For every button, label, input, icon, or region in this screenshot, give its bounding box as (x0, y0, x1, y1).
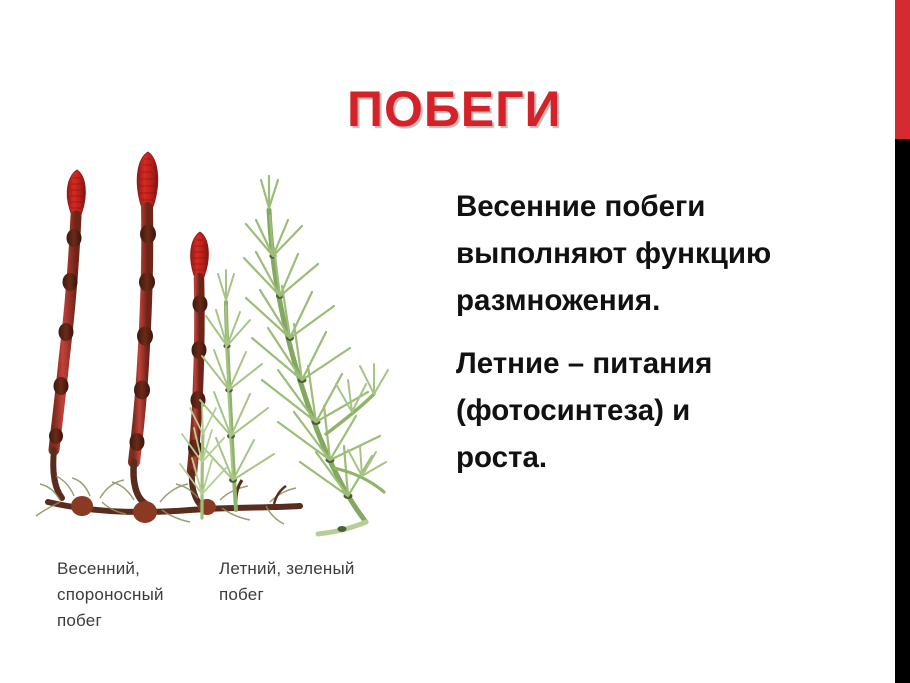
horsetail-illustration (30, 150, 390, 540)
body-text-block: Весенние побеги выполняют функцию размно… (456, 183, 786, 481)
spring-shoot-left (49, 170, 85, 498)
edge-accent-bar-black (895, 139, 910, 683)
caption-spring-shoot: Весенний, спороносный побег (57, 556, 207, 634)
summer-shoot-group (180, 176, 388, 534)
body-paragraph-1: Весенние побеги выполняют функцию размно… (456, 183, 786, 324)
caption-summer-shoot: Летний, зеленый побег (219, 556, 389, 608)
page-title: ПОБЕГИ (347, 84, 561, 134)
spring-shoot-right (188, 232, 208, 508)
body-paragraph-2: Летние – питания (фотосинтеза) и роста. (456, 340, 786, 481)
spring-shoot-group (49, 152, 208, 508)
spring-shoot-middle (130, 152, 158, 504)
presentation-slide: ПОБЕГИ Весенние побеги выполняют функцию… (0, 0, 910, 683)
rhizome-and-roots (36, 476, 300, 524)
edge-accent-bar-red (895, 0, 910, 139)
